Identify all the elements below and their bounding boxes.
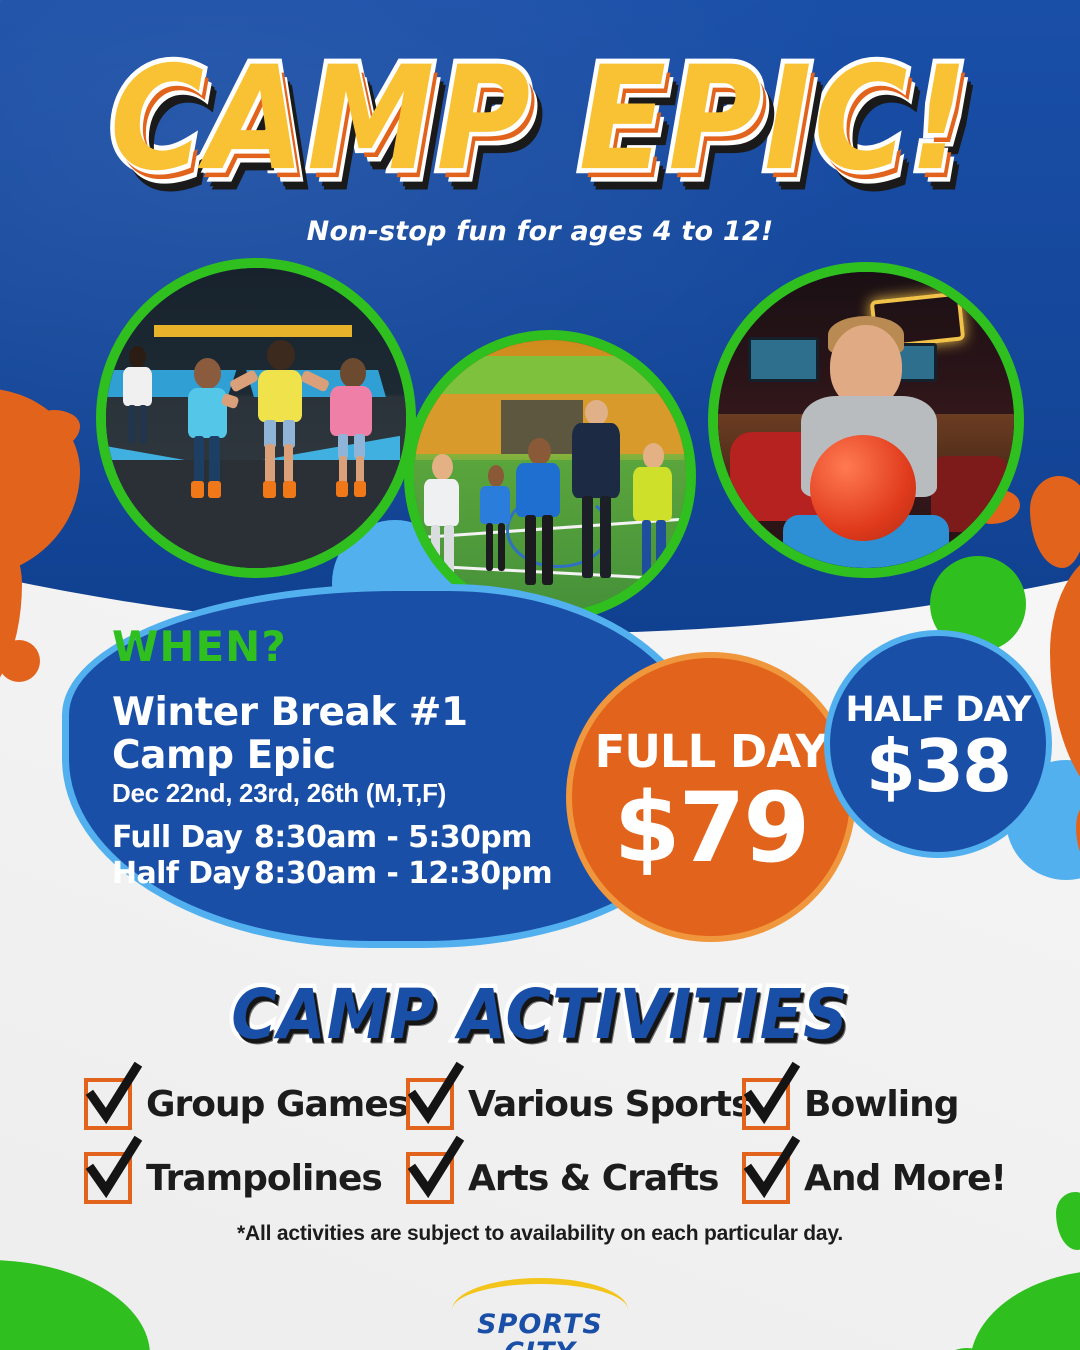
activity-label: Arts & Crafts [468, 1158, 718, 1199]
price-badge-half-day: HALF DAY $38 [824, 630, 1052, 858]
checkbox-checked-icon [84, 1078, 132, 1130]
photo-indoor-field-running [404, 330, 696, 622]
activity-label: Trampolines [146, 1158, 382, 1199]
checkbox-checked-icon [406, 1078, 454, 1130]
when-session-line2: Camp Epic [112, 733, 336, 778]
flyer-title: CAMP EPIC! [0, 56, 1080, 184]
price-badge-full-day: FULL DAY $79 [566, 652, 856, 942]
when-session-line1: Winter Break #1 [112, 690, 468, 735]
schedule-time-full-day: 8:30am - 5:30pm [254, 820, 532, 855]
schedule-label-full-day: Full Day [112, 820, 254, 855]
activity-item: Various Sports [406, 1078, 742, 1130]
logo-name: SPORTS CITY [440, 1311, 640, 1350]
title-text: CAMP EPIC! [110, 48, 970, 191]
activity-label: And More! [804, 1158, 1006, 1199]
activity-item: Bowling [742, 1078, 992, 1130]
camp-epic-flyer: CAMP EPIC! Non-stop fun for ages 4 to 12… [0, 0, 1080, 1350]
bowling-scene [718, 272, 1014, 568]
activity-label: Bowling [804, 1084, 959, 1125]
checkbox-checked-icon [742, 1078, 790, 1130]
when-heading: WHEN? [112, 622, 287, 671]
activity-item: Arts & Crafts [406, 1152, 742, 1204]
activity-label: Various Sports [468, 1084, 751, 1125]
photo-trampoline-park-kids [96, 258, 416, 578]
sports-city-logo: SPORTS CITY ARENA SPORTS CENTERS [440, 1278, 640, 1350]
price-amount-full-day: $79 [614, 780, 808, 876]
activities-list: Group Games Various Sports Bowling Tr [84, 1078, 1000, 1226]
field-running-scene [414, 340, 686, 612]
trampoline-scene [106, 268, 406, 568]
activities-disclaimer: *All activities are subject to availabil… [0, 1222, 1080, 1246]
when-dates: Dec 22nd, 23rd, 26th (M,T,F) [112, 778, 446, 809]
activities-heading-text: CAMP ACTIVITIES [231, 974, 849, 1054]
schedule-row-half-day: Half Day8:30am - 12:30pm [112, 856, 552, 891]
activity-item: Trampolines [84, 1152, 406, 1204]
schedule-time-half-day: 8:30am - 12:30pm [254, 856, 552, 891]
activity-item: Group Games [84, 1078, 406, 1130]
activities-row: Trampolines Arts & Crafts And More! [84, 1152, 1000, 1204]
activities-heading: CAMP ACTIVITIES [0, 978, 1080, 1051]
checkbox-checked-icon [84, 1152, 132, 1204]
logo-arc-icon [452, 1278, 628, 1310]
photo-bowling-child [708, 262, 1024, 578]
checkbox-checked-icon [406, 1152, 454, 1204]
flyer-subtitle: Non-stop fun for ages 4 to 12! [0, 216, 1080, 247]
price-label-full-day: FULL DAY [595, 725, 828, 778]
checkbox-checked-icon [742, 1152, 790, 1204]
price-amount-half-day: $38 [866, 730, 1010, 802]
schedule-row-full-day: Full Day8:30am - 5:30pm [112, 820, 532, 855]
activities-row: Group Games Various Sports Bowling [84, 1078, 1000, 1130]
schedule-label-half-day: Half Day [112, 856, 254, 891]
activity-label: Group Games [146, 1084, 408, 1125]
activity-item: And More! [742, 1152, 992, 1204]
